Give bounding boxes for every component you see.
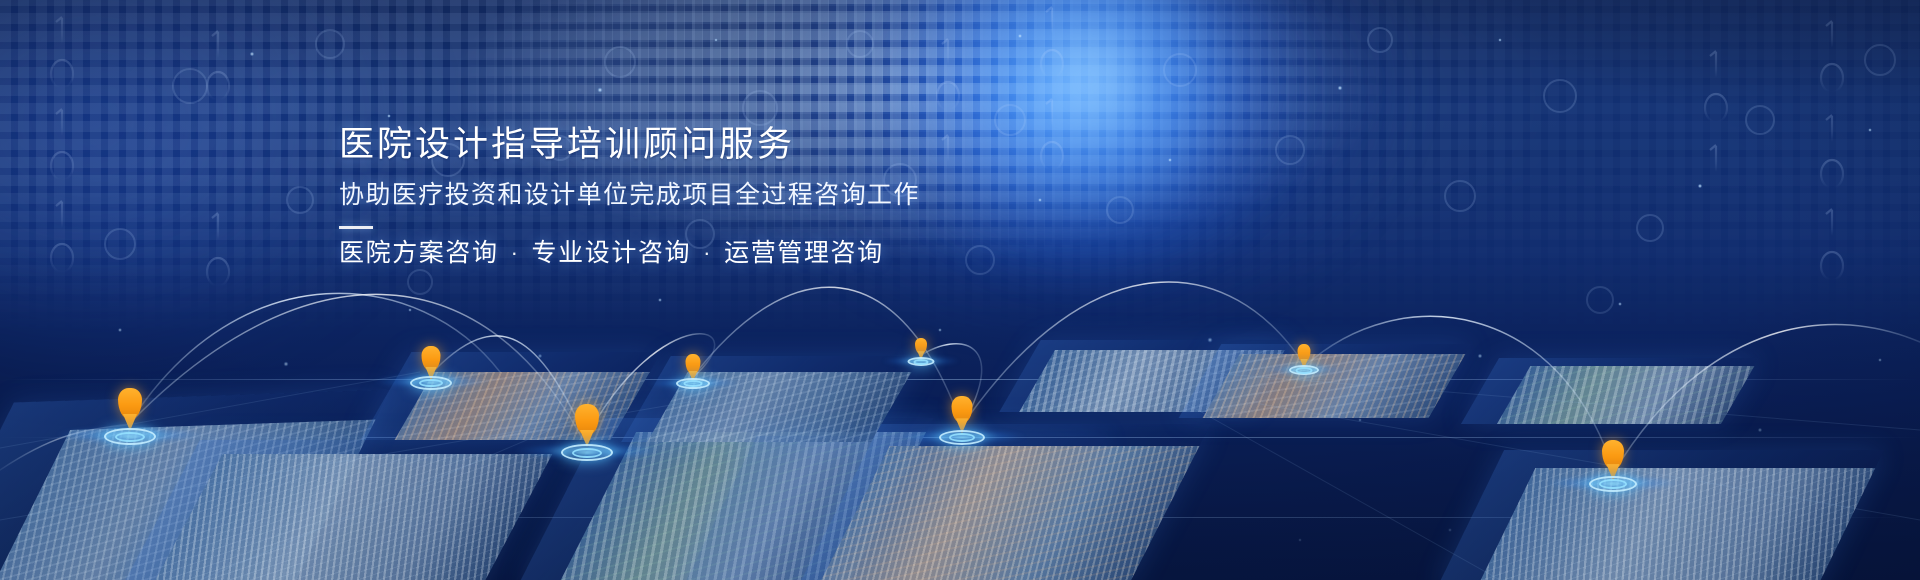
pin-icon xyxy=(118,388,142,419)
pin-icon xyxy=(1602,440,1624,469)
pin-icon xyxy=(915,338,927,354)
map-pin-marker[interactable] xyxy=(411,346,451,400)
pin-ring-inner xyxy=(949,433,975,442)
banner-service-list: 医院方案咨询 · 专业设计咨询 · 运营管理咨询 xyxy=(339,237,1099,270)
pin-ring-inner xyxy=(1296,367,1313,374)
map-scene xyxy=(0,0,1920,580)
pin-icon xyxy=(952,396,973,423)
map-pin-marker[interactable] xyxy=(1290,344,1318,384)
pin-ring-inner xyxy=(914,359,929,365)
service-separator-icon: · xyxy=(511,239,520,268)
service-item-2: 专业设计咨询 xyxy=(532,237,692,270)
hero-banner: 医院设计指导培训顾问服务 协助医疗投资和设计单位完成项目全过程咨询工作 医院方案… xyxy=(0,0,1920,580)
banner-subheadline: 协助医疗投资和设计单位完成项目全过程咨询工作 xyxy=(339,179,1099,212)
map-pin-marker[interactable] xyxy=(941,396,983,454)
pin-icon xyxy=(422,346,441,371)
pin-ring-inner xyxy=(115,432,145,442)
map-pin-marker[interactable] xyxy=(1590,440,1636,502)
pin-ring-inner xyxy=(419,379,443,387)
banner-headline: 医院设计指导培训顾问服务 xyxy=(339,122,1099,168)
map-pin-marker[interactable] xyxy=(105,388,155,456)
pin-ring-inner xyxy=(684,380,703,387)
pin-ring-inner xyxy=(572,448,602,458)
pin-ring-inner xyxy=(1599,479,1627,489)
banner-copy: 医院设计指导培训顾问服务 协助医疗投资和设计单位完成项目全过程咨询工作 医院方案… xyxy=(339,122,1099,269)
pin-icon xyxy=(686,354,701,374)
service-item-1: 医院方案咨询 xyxy=(339,237,499,270)
divider-rule xyxy=(339,226,373,229)
pin-icon xyxy=(1298,344,1311,362)
service-separator-icon: · xyxy=(703,239,712,268)
map-pin-marker[interactable] xyxy=(677,354,709,398)
map-pin-marker[interactable] xyxy=(562,404,612,472)
map-pin-marker[interactable] xyxy=(908,338,934,374)
pin-icon xyxy=(575,404,599,435)
service-item-3: 运营管理咨询 xyxy=(724,237,884,270)
